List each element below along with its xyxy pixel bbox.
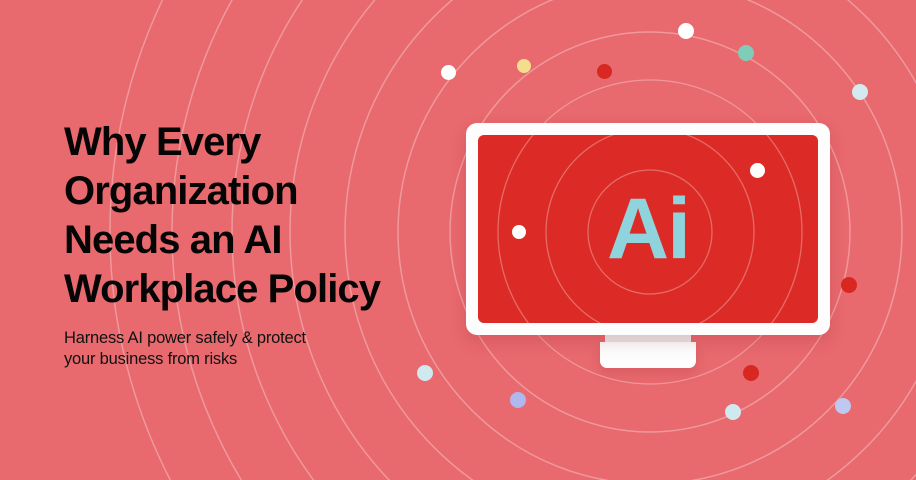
dot-red-top (597, 64, 612, 79)
text-block: Why Every Organization Needs an AI Workp… (64, 118, 424, 370)
monitor-screen: Ai (478, 135, 818, 323)
dot-periwinkle-bottom (510, 392, 526, 408)
page-subtitle: Harness AI power safely & protect your b… (64, 328, 424, 370)
screen-dot-left (512, 225, 526, 239)
dot-red-bottom-right (743, 365, 759, 381)
page-title: Why Every Organization Needs an AI Workp… (64, 118, 424, 314)
dot-red-right (841, 277, 857, 293)
screen-dot-right (750, 163, 765, 178)
ai-logo-text: Ai (478, 186, 818, 272)
monitor-base (600, 342, 696, 368)
dot-white-top-left (441, 65, 456, 80)
dot-green-top-right (738, 45, 754, 61)
ai-policy-banner: Why Every Organization Needs an AI Workp… (0, 0, 916, 480)
dot-palecyan-bottom (725, 404, 741, 420)
dot-paleblue-right (852, 84, 868, 100)
dot-yellow-top (517, 59, 531, 73)
monitor-illustration: Ai (466, 123, 830, 335)
dot-white-top-right (678, 23, 694, 39)
dot-periwinkle-right (835, 398, 851, 414)
